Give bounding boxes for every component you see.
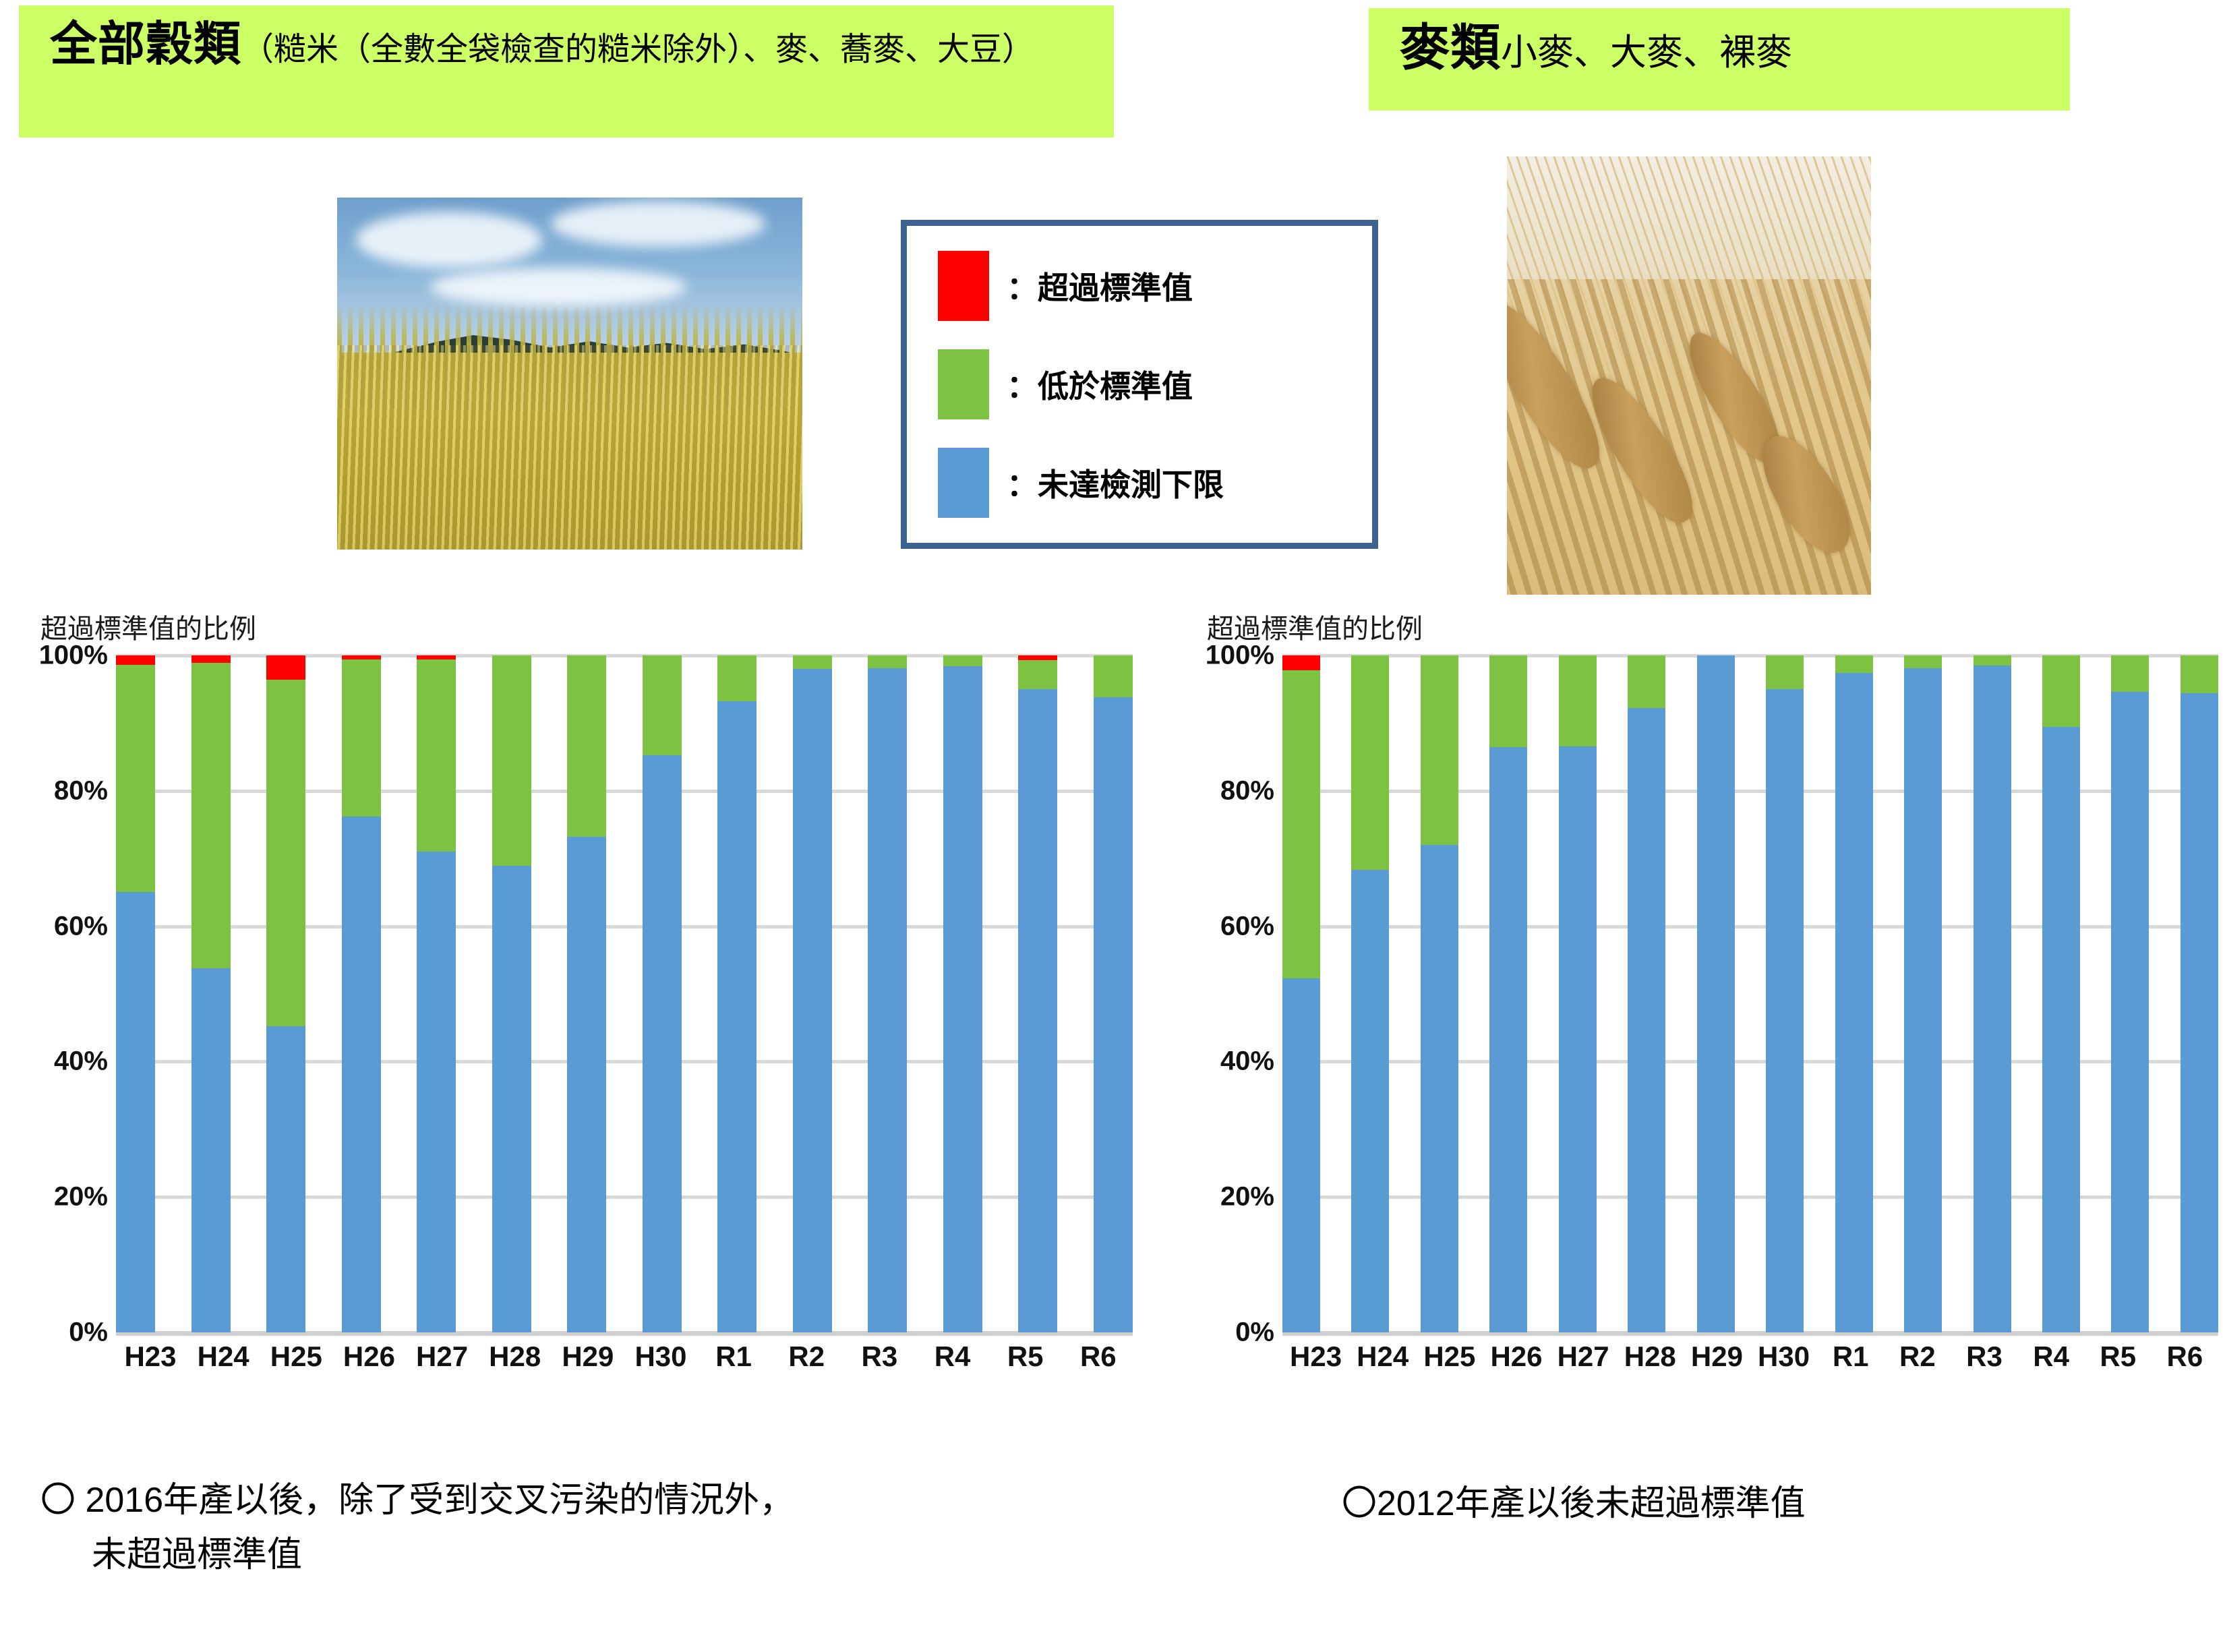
banner-left-title: 全部穀類 (50, 18, 241, 70)
bar-column[interactable] (793, 655, 832, 1332)
x-axis-tick: H28 (481, 1340, 550, 1373)
y-axis-tick: 100% (1206, 641, 1274, 671)
bar-segment (1766, 689, 1804, 1332)
y-axis-tick: 60% (1220, 911, 1274, 941)
bar-column[interactable] (1628, 655, 1665, 1332)
bar-segment (116, 655, 155, 665)
chart-legend: ：超過標準值 ：低於標準值 ：未達檢測下限 (901, 220, 1378, 549)
bar-segment (793, 655, 832, 669)
bar-segment (1018, 689, 1057, 1332)
legend-item-under-standard: ：低於標準值 (938, 345, 1372, 423)
x-axis-tick: R2 (772, 1340, 841, 1373)
bar-segment (2111, 692, 2149, 1332)
x-axis-tick: R4 (2018, 1340, 2085, 1373)
note-left-line2: 未超過標準值 (92, 1528, 1187, 1583)
bar-segment (2180, 693, 2218, 1332)
bar-segment (1094, 697, 1133, 1332)
chart-right-x-axis: H23H24H25H26H27H28H29H30R1R2R3R4R5R6 (1282, 1332, 2218, 1390)
chart-left-plot-area (116, 655, 1133, 1332)
photo-cloud (356, 212, 542, 268)
chart-right-y-axis: 0%20%40%60%80%100% (1207, 655, 1282, 1332)
bar-segment (417, 659, 456, 852)
bar-column[interactable] (266, 655, 305, 1332)
bar-segment (191, 655, 231, 663)
bar-segment (1094, 655, 1133, 697)
bar-segment (1282, 655, 1320, 670)
note-all-grains: 〇 2016年產以後，除了受到交叉污染的情況外， 未超過標準值 (40, 1473, 1187, 1582)
bar-segment (2042, 727, 2080, 1332)
photo-cloud (551, 201, 765, 247)
bar-column[interactable] (191, 655, 231, 1332)
bar-column[interactable] (1697, 655, 1735, 1332)
x-axis-tick: H29 (1684, 1340, 1750, 1373)
bar-column[interactable] (1559, 655, 1597, 1332)
x-axis-tick: H24 (189, 1340, 258, 1373)
bar-segment (266, 680, 305, 1026)
x-axis-tick: H23 (1282, 1340, 1349, 1373)
bar-segment (793, 669, 832, 1332)
bar-column[interactable] (1018, 655, 1057, 1332)
bar-column[interactable] (1766, 655, 1804, 1332)
bar-column[interactable] (1351, 655, 1389, 1332)
y-axis-tick: 80% (1220, 775, 1274, 806)
bar-column[interactable] (1489, 655, 1527, 1332)
chart-all-grains: 超過標準值的比例 0%20%40%60%80%100% H23H24H25H26… (40, 607, 1133, 1436)
bar-segment (417, 852, 456, 1332)
x-axis-tick: H27 (1550, 1340, 1617, 1373)
x-axis-tick: R5 (991, 1340, 1060, 1373)
y-axis-tick: 60% (54, 911, 108, 941)
bar-segment (1282, 670, 1320, 978)
bar-segment (1697, 655, 1735, 1332)
x-axis-tick: H26 (334, 1340, 403, 1373)
bar-segment (492, 866, 531, 1332)
bar-segment (1559, 655, 1597, 746)
y-axis-tick: 40% (54, 1046, 108, 1077)
x-axis-tick: H29 (554, 1340, 622, 1373)
wheat-field-photo (337, 198, 802, 550)
x-axis-tick: R3 (845, 1340, 914, 1373)
x-axis-tick: R3 (1951, 1340, 2017, 1373)
banner-right-subtitle: 小麥、大麥、裸麥 (1501, 32, 1792, 73)
bar-segment (1018, 660, 1057, 689)
x-axis-tick: R1 (699, 1340, 768, 1373)
bar-column[interactable] (492, 655, 531, 1332)
bar-segment (191, 968, 231, 1332)
slide-root: 全部穀類（糙米（全數全袋檢查的糙米除外）、麥、蕎麥、大豆） 麥類小麥、大麥、裸麥… (0, 0, 2225, 1652)
bar-segment (116, 665, 155, 892)
x-axis-tick: R6 (2152, 1340, 2218, 1373)
bar-segment (567, 837, 606, 1332)
x-axis-tick: R5 (2085, 1340, 2152, 1373)
chart-left-bars (116, 655, 1133, 1332)
x-axis-tick: R4 (918, 1340, 987, 1373)
bar-segment (1559, 746, 1597, 1332)
legend-label-over-standard: ：超過標準值 (1007, 264, 1193, 308)
bar-segment (1835, 655, 1873, 673)
bar-segment (2042, 655, 2080, 727)
bar-segment (1974, 655, 2011, 666)
legend-item-over-standard: ：超過標準值 (938, 247, 1372, 325)
legend-label-under-standard: ：低於標準值 (1007, 362, 1193, 407)
bar-segment (717, 701, 756, 1332)
y-axis-tick: 40% (1220, 1046, 1274, 1077)
chart-wheat-barley: 超過標準值的比例 0%20%40%60%80%100% H23H24H25H26… (1207, 607, 2218, 1436)
bar-segment (266, 1026, 305, 1332)
bar-segment (567, 655, 606, 837)
bar-segment (492, 655, 531, 866)
bar-segment (643, 655, 682, 755)
photo-grain-texture (337, 345, 802, 550)
x-axis-tick: H25 (262, 1340, 330, 1373)
bar-segment (2180, 655, 2218, 693)
bar-segment (1766, 655, 1804, 689)
banner-left-subtitle: （糙米（全數全袋檢查的糙米除外）、麥、蕎麥、大豆） (241, 32, 1034, 67)
bar-column[interactable] (2180, 655, 2218, 1332)
x-axis-tick: H27 (408, 1340, 477, 1373)
bar-column[interactable] (717, 655, 756, 1332)
x-axis-tick: R2 (1884, 1340, 1951, 1373)
note-wheat: 〇2012年產以後未超過標準值 (1342, 1477, 2178, 1531)
green-square-icon (938, 349, 989, 419)
bar-column[interactable] (643, 655, 682, 1332)
bar-segment (1421, 845, 1458, 1332)
bar-segment (1489, 747, 1527, 1332)
bar-column[interactable] (2042, 655, 2080, 1332)
x-axis-tick: H23 (116, 1340, 185, 1373)
bar-column[interactable] (342, 655, 381, 1332)
bar-column[interactable] (1835, 655, 1873, 1332)
bar-segment (943, 655, 982, 666)
blue-square-icon (938, 448, 989, 518)
bar-segment (1421, 655, 1458, 845)
chart-left-x-axis: H23H24H25H26H27H28H29H30R1R2R3R4R5R6 (116, 1332, 1133, 1390)
bar-segment (2111, 655, 2149, 692)
bar-segment (643, 755, 682, 1332)
x-axis-tick: H26 (1483, 1340, 1549, 1373)
bar-segment (1018, 655, 1057, 660)
bar-column[interactable] (868, 655, 907, 1332)
bar-segment (1974, 666, 2011, 1332)
chart-right-bars (1282, 655, 2218, 1332)
x-axis-tick: H28 (1617, 1340, 1684, 1373)
y-axis-tick: 80% (54, 775, 108, 806)
bar-column[interactable] (417, 655, 456, 1332)
bar-segment (1628, 655, 1665, 708)
bar-segment (342, 817, 381, 1332)
bar-segment (342, 659, 381, 817)
y-axis-tick: 20% (1220, 1182, 1274, 1212)
bar-segment (868, 668, 907, 1332)
bar-segment (717, 655, 756, 701)
note-left-line1: 〇 2016年產以後，除了受到交叉污染的情況外， (40, 1481, 794, 1520)
bar-segment (191, 663, 231, 968)
bar-segment (1282, 978, 1320, 1332)
bar-segment (1835, 673, 1873, 1332)
bar-segment (266, 655, 305, 680)
x-axis-tick: R1 (1817, 1340, 1884, 1373)
bar-segment (1489, 655, 1527, 747)
bar-segment (943, 666, 982, 1332)
bar-column[interactable] (1282, 655, 1320, 1332)
photo-cloud (430, 268, 686, 306)
bar-column[interactable] (1904, 655, 1942, 1332)
bar-segment (1904, 655, 1942, 668)
red-square-icon (938, 251, 989, 321)
bar-segment (116, 892, 155, 1332)
bar-column[interactable] (1094, 655, 1133, 1332)
chart-right-caption: 超過標準值的比例 (1207, 607, 2218, 646)
barley-ears-photo (1507, 156, 1871, 595)
bar-column[interactable] (1974, 655, 2011, 1332)
x-axis-tick: H30 (1750, 1340, 1817, 1373)
chart-left-y-axis: 0%20%40%60%80%100% (40, 655, 116, 1332)
bar-segment (1628, 708, 1665, 1332)
y-axis-tick: 0% (69, 1318, 108, 1348)
bar-segment (1904, 668, 1942, 1332)
x-axis-tick: H30 (626, 1340, 695, 1373)
chart-right-plot-area (1282, 655, 2218, 1332)
x-axis-tick: R6 (1064, 1340, 1133, 1373)
y-axis-tick: 100% (39, 641, 108, 671)
bar-segment (1351, 655, 1389, 870)
bar-segment (1351, 870, 1389, 1332)
bar-column[interactable] (116, 655, 155, 1332)
bar-column[interactable] (943, 655, 982, 1332)
legend-item-below-detection: ：未達檢測下限 (938, 444, 1372, 522)
x-axis-tick: H25 (1416, 1340, 1483, 1373)
bar-column[interactable] (2111, 655, 2149, 1332)
bar-column[interactable] (567, 655, 606, 1332)
x-axis-tick: H24 (1349, 1340, 1416, 1373)
y-axis-tick: 20% (54, 1182, 108, 1212)
legend-label-below-detection: ：未達檢測下限 (1007, 461, 1224, 505)
chart-left-caption: 超過標準值的比例 (40, 607, 1133, 646)
bar-segment (868, 655, 907, 668)
bar-column[interactable] (1421, 655, 1458, 1332)
banner-wheat: 麥類小麥、大麥、裸麥 (1369, 8, 2070, 111)
y-axis-tick: 0% (1235, 1318, 1274, 1348)
banner-right-title: 麥類 (1400, 20, 1501, 76)
banner-all-grains: 全部穀類（糙米（全數全袋檢查的糙米除外）、麥、蕎麥、大豆） (19, 5, 1114, 138)
